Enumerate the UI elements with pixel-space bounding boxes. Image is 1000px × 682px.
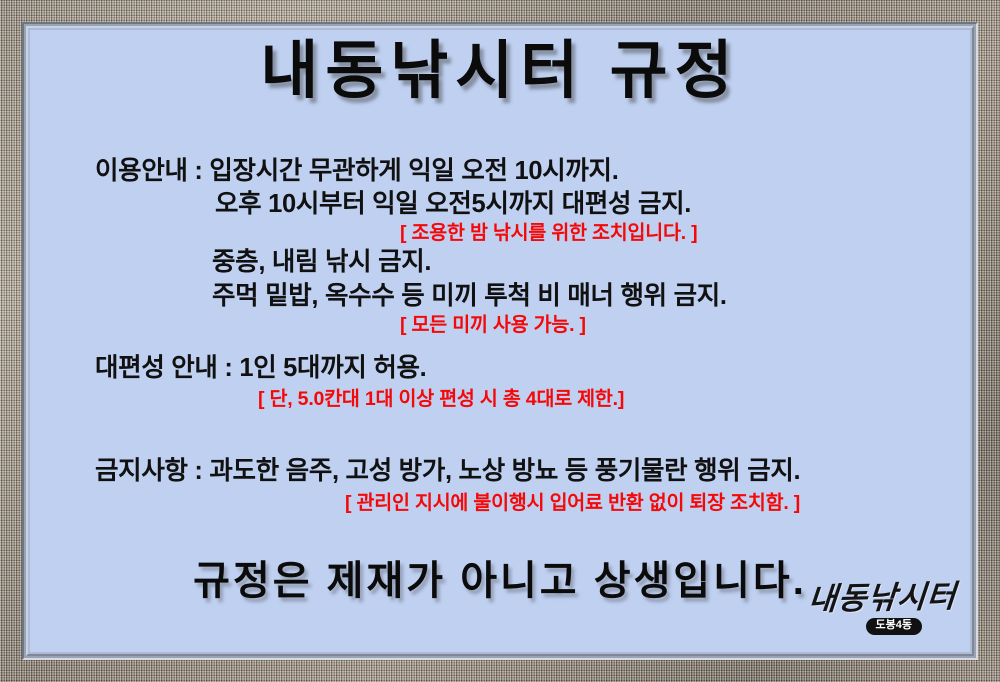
brand-wordmark: 내동낚시터 [744, 582, 957, 617]
banned-methods-note: [ 모든 미끼 사용 가능. ] [400, 308, 586, 337]
brand-logo: 내동낚시터 도봉4동 [746, 584, 956, 648]
prohibitions-line-1: 금지사항 : 과도한 음주, 고성 방가, 노상 방뇨 등 풍기물란 행위 금지… [95, 450, 800, 487]
usage-note: [ 조용한 밤 낚시를 위한 조치입니다. ] [400, 216, 697, 245]
prohibitions-note: [ 관리인 지시에 불이행시 입어료 반환 없이 퇴장 조치함. ] [345, 486, 800, 515]
fleet-note: [ 단, 5.0칸대 1대 이상 편성 시 총 4대로 제한.] [258, 382, 624, 411]
poster-frame: 내동낚시터 규정 이용안내 : 입장시간 무관하게 익일 오전 10시까지. 오… [0, 0, 1000, 682]
brand-badge: 도봉4동 [866, 618, 922, 635]
page-title: 내동낚시터 규정 [30, 38, 970, 104]
usage-line-2: 오후 10시부터 익일 오전5시까지 대편성 금지. [215, 183, 691, 220]
poster-board: 내동낚시터 규정 이용안내 : 입장시간 무관하게 익일 오전 10시까지. 오… [30, 30, 970, 652]
fleet-line-1: 대편성 안내 : 1인 5대까지 허용. [95, 347, 426, 384]
usage-line-1: 이용안내 : 입장시간 무관하게 익일 오전 10시까지. [95, 150, 619, 187]
banned-methods-line-2: 주먹 밑밥, 옥수수 등 미끼 투척 비 매너 행위 금지. [212, 275, 727, 312]
banned-methods-line-1: 중층, 내림 낚시 금지. [212, 241, 431, 278]
